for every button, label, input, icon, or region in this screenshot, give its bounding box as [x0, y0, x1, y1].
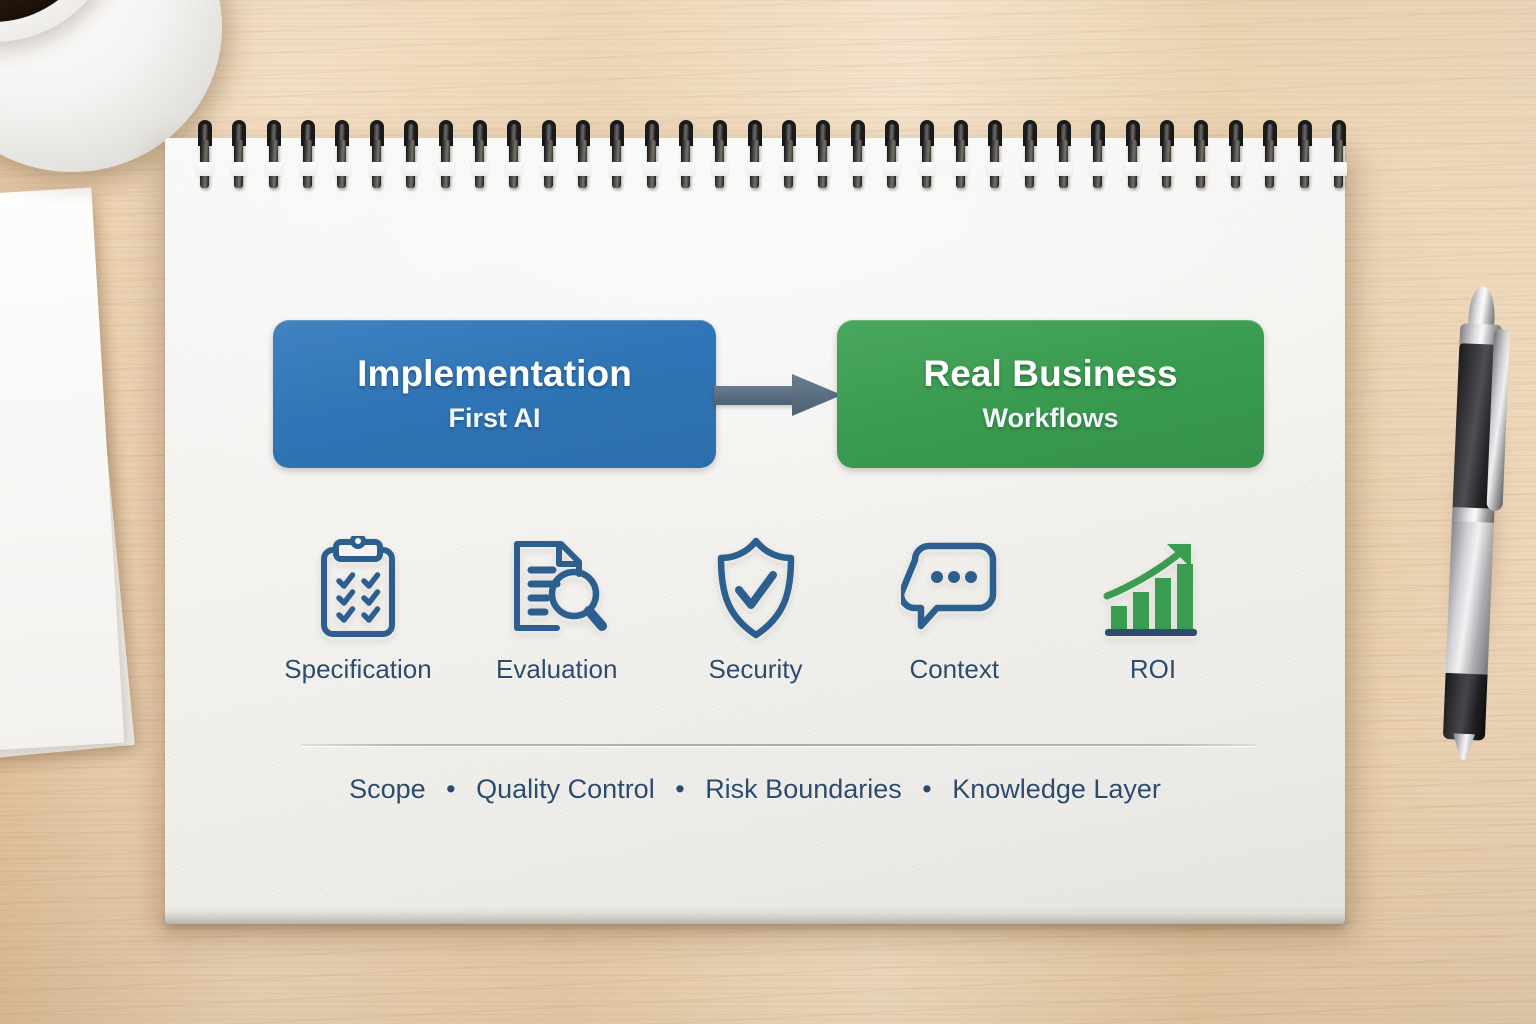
footer-separator-1: •: [433, 774, 468, 805]
paper-sheet-front: [0, 187, 124, 760]
process-box-implementation-title: Implementation: [357, 354, 632, 394]
process-box-real-business[interactable]: Real Business Workflows: [837, 320, 1264, 468]
arrow-tail: [714, 386, 802, 405]
pillar-evaluation-label: Evaluation: [496, 654, 617, 685]
arrow-head: [792, 374, 842, 416]
pillar-security[interactable]: Security: [681, 536, 831, 685]
footer-separator-3: •: [909, 774, 944, 805]
footer-keyword-quality-control: Quality Control: [476, 774, 655, 804]
arrow-right-icon: [714, 374, 842, 416]
pillar-specification[interactable]: Specification: [283, 536, 433, 685]
loose-papers: [0, 196, 140, 776]
footer-separator-2: •: [662, 774, 697, 805]
process-box-real-business-subtitle: Workflows: [982, 403, 1118, 434]
pillar-roi-label: ROI: [1130, 654, 1176, 685]
document-magnifier-icon: [505, 536, 609, 640]
pillar-evaluation[interactable]: Evaluation: [482, 536, 632, 685]
pillar-security-label: Security: [709, 654, 803, 685]
bar-chart-up-arrow-icon: [1101, 536, 1205, 640]
process-box-implementation-subtitle: First AI: [448, 403, 540, 434]
footer-keyword-risk-boundaries: Risk Boundaries: [705, 774, 902, 804]
pen-silver-barrel: [1445, 521, 1493, 679]
pillars-row: Specification Eva: [283, 536, 1228, 716]
shield-check-icon: [709, 536, 803, 640]
footer-keywords: Scope • Quality Control • Risk Boundarie…: [165, 774, 1345, 805]
process-box-real-business-title: Real Business: [923, 354, 1177, 394]
footer-keyword-scope: Scope: [349, 774, 426, 804]
diagram-canvas: Implementation First AI Real Business Wo…: [165, 138, 1345, 922]
pillar-context[interactable]: Context: [879, 536, 1029, 685]
clipboard-checklist-icon: [310, 536, 406, 640]
pillar-context-label: Context: [909, 654, 999, 685]
pillar-roi[interactable]: ROI: [1078, 536, 1228, 685]
pillar-specification-label: Specification: [284, 654, 431, 685]
speech-bubble-dots-icon: [901, 536, 1007, 640]
horizontal-divider: [301, 744, 1256, 746]
pen-lower-black-grip: [1443, 673, 1488, 741]
footer-keyword-knowledge-layer: Knowledge Layer: [952, 774, 1161, 804]
process-box-implementation[interactable]: Implementation First AI: [273, 320, 716, 468]
